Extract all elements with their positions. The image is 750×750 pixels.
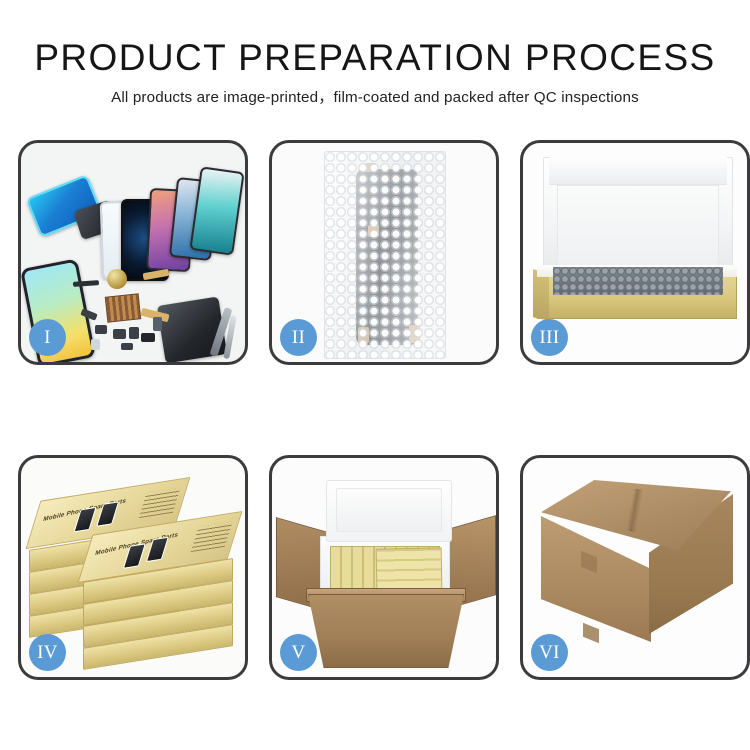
- process-step-2: II: [269, 140, 499, 365]
- yellow-boxes-inside-2: [376, 547, 443, 590]
- yellow-box-side-flap: [533, 269, 549, 320]
- header: PRODUCT PREPARATION PROCESS All products…: [0, 36, 750, 108]
- box-spec-text-lines-front: [191, 522, 233, 553]
- small-part-6: [91, 339, 100, 350]
- process-step-5: V: [269, 455, 499, 680]
- small-part-5: [141, 333, 155, 342]
- small-part-4: [129, 327, 139, 339]
- small-part-2: [95, 325, 107, 334]
- vibration-motor: [107, 269, 127, 289]
- page-title: PRODUCT PREPARATION PROCESS: [0, 36, 750, 80]
- step-badge-6: VI: [531, 634, 568, 671]
- small-part-7: [121, 343, 133, 350]
- styrofoam-lid-inner: [336, 488, 442, 532]
- step-badge-3: III: [531, 319, 568, 356]
- small-part-8: [153, 317, 162, 331]
- step-badge-1: I: [29, 319, 66, 356]
- step-badge-2: II: [280, 319, 317, 356]
- small-part-3: [113, 329, 126, 339]
- bubble-wrap-bag: [324, 151, 446, 359]
- process-step-1: I: [18, 140, 248, 365]
- bubble-wrapped-contents: [553, 267, 723, 295]
- step-badge-5: V: [280, 634, 317, 671]
- connector-pin-grid: [105, 293, 142, 322]
- step-badge-4: IV: [29, 634, 66, 671]
- earpiece-speaker: [73, 280, 99, 287]
- product-preparation-infographic: PRODUCT PREPARATION PROCESS All products…: [0, 0, 750, 750]
- process-step-3: III: [520, 140, 750, 365]
- carton-tape-patch-2: [583, 623, 599, 643]
- process-step-6: VI: [520, 455, 750, 680]
- page-subtitle: All products are image-printed，film-coat…: [0, 88, 750, 108]
- process-step-4: Mobile Phone Spare Parts Mobile Phone Sp…: [18, 455, 248, 680]
- foam-sheet: [557, 185, 719, 267]
- process-step-grid: I II: [18, 140, 732, 680]
- box-stack: Mobile Phone Spare Parts Mobile Phone Sp…: [29, 476, 237, 662]
- box-spec-text-lines-rear: [139, 488, 181, 519]
- foam-lid-top-edge: [549, 157, 727, 185]
- carton-body: [308, 594, 464, 668]
